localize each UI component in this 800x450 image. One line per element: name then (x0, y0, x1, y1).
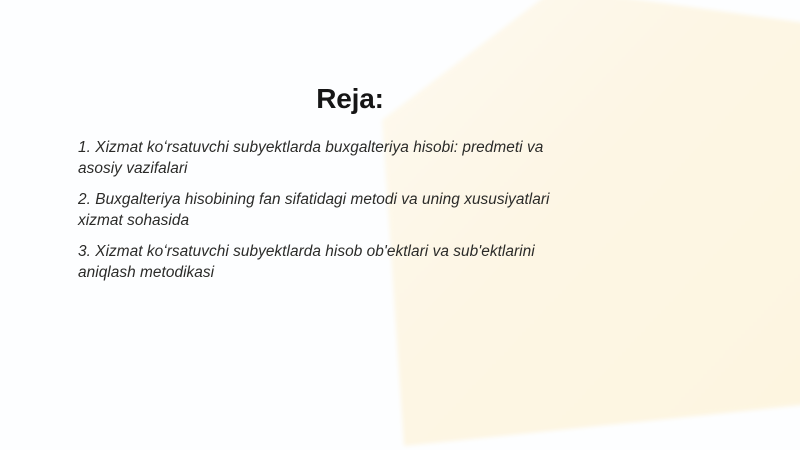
page-title: Reja: (0, 82, 700, 116)
list-item: 1. Xizmat koʻrsatuvchi subyektlarda buxg… (78, 138, 578, 179)
agenda-list: 1. Xizmat koʻrsatuvchi subyektlarda buxg… (78, 138, 608, 283)
list-item: 2. Buxgalteriya hisobining fan sifatidag… (78, 190, 578, 231)
slide-content: Reja: 1. Xizmat koʻrsatuvchi subyektlard… (0, 0, 800, 450)
presentation-slide: Reja: 1. Xizmat koʻrsatuvchi subyektlard… (0, 0, 800, 450)
list-item: 3. Xizmat koʻrsatuvchi subyektlarda hiso… (78, 242, 578, 283)
